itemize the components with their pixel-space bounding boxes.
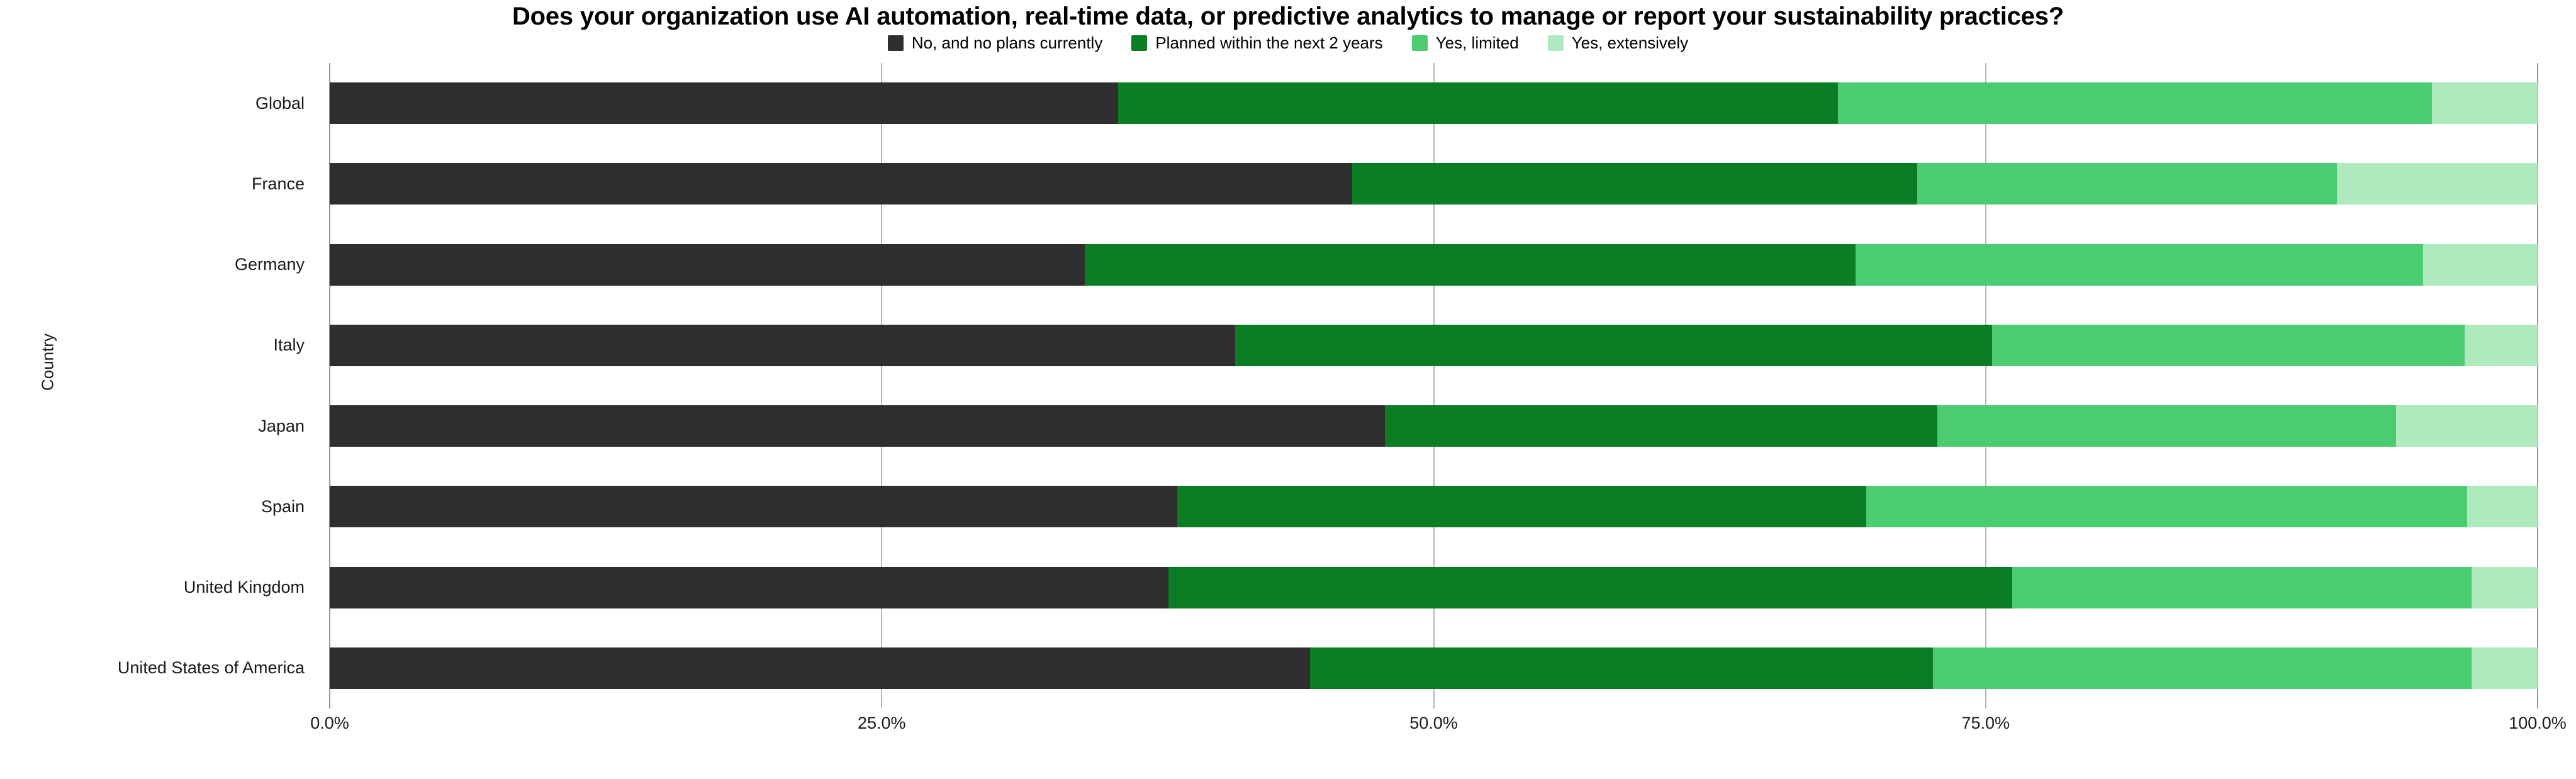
stacked-bar (330, 163, 2538, 205)
bar-segment[interactable] (330, 567, 1168, 608)
y-axis-labels: GlobalFranceGermanyItalyJapanSpainUnited… (0, 63, 317, 709)
y-axis-label: Spain (261, 497, 305, 517)
bar-segment[interactable] (1933, 647, 2472, 689)
legend-swatch-icon (1412, 35, 1428, 51)
bar-segment[interactable] (2423, 244, 2538, 286)
x-axis-tick-label: 75.0% (1961, 714, 2010, 733)
legend-swatch-icon (888, 35, 904, 51)
legend-item-label: Yes, extensively (1572, 35, 1688, 51)
legend-item[interactable]: No, and no plans currently (888, 35, 1103, 51)
bar-row (330, 143, 2538, 224)
y-axis-label-cell: United Kingdom (0, 547, 317, 628)
bar-segment[interactable] (2396, 405, 2538, 447)
bar-segment[interactable] (330, 325, 1235, 366)
y-axis-label: United States of America (118, 658, 305, 678)
y-axis-label: Japan (258, 417, 305, 436)
bar-segment[interactable] (2472, 567, 2538, 608)
x-axis-tick-label: 0.0% (310, 714, 349, 733)
bar-segment[interactable] (2472, 647, 2538, 689)
bar-segment[interactable] (330, 647, 1310, 689)
chart-legend: No, and no plans currentlyPlanned within… (0, 35, 2576, 51)
bar-segment[interactable] (2465, 325, 2538, 366)
bar-segment[interactable] (1937, 405, 2397, 447)
y-axis-label-cell: Italy (0, 305, 317, 386)
bar-segment[interactable] (2012, 567, 2472, 608)
bar-row (330, 305, 2538, 386)
y-axis-label: Italy (273, 335, 305, 355)
chart-title: Does your organization use AI automation… (0, 3, 2576, 31)
bar-row (330, 466, 2538, 547)
bar-row (330, 547, 2538, 628)
bar-segment[interactable] (1235, 325, 1993, 366)
y-axis-label: Germany (235, 255, 305, 274)
bar-segment[interactable] (1992, 325, 2465, 366)
legend-item-label: No, and no plans currently (912, 35, 1103, 51)
bar-segment[interactable] (1118, 82, 1838, 124)
y-axis-label-cell: Japan (0, 386, 317, 466)
x-axis-tick-label: 100.0% (2509, 714, 2567, 733)
bar-segment[interactable] (1917, 163, 2337, 205)
y-axis-label: France (252, 174, 305, 194)
bar-series-group (330, 63, 2538, 709)
stacked-bar (330, 567, 2538, 608)
x-axis-tick-label: 50.0% (1409, 714, 1458, 733)
legend-item-label: Yes, limited (1436, 35, 1519, 51)
bar-segment[interactable] (1310, 647, 1933, 689)
bar-segment[interactable] (2432, 82, 2538, 124)
bar-segment[interactable] (2337, 163, 2538, 205)
y-axis-label-cell: Germany (0, 225, 317, 305)
y-axis-label-cell: United States of America (0, 628, 317, 709)
bar-row (330, 628, 2538, 709)
legend-item-label: Planned within the next 2 years (1155, 35, 1382, 51)
bar-segment[interactable] (1352, 163, 1917, 205)
bar-row (330, 225, 2538, 305)
bar-row (330, 63, 2538, 143)
y-axis-label-cell: Global (0, 63, 317, 143)
legend-swatch-icon (1131, 35, 1147, 51)
legend-item[interactable]: Planned within the next 2 years (1131, 35, 1382, 51)
stacked-bar (330, 405, 2538, 447)
legend-item[interactable]: Yes, extensively (1548, 35, 1688, 51)
x-axis-tick-label: 25.0% (858, 714, 906, 733)
y-axis-label: Global (255, 94, 305, 113)
chart-container: Does your organization use AI automation… (0, 0, 2576, 779)
stacked-bar (330, 244, 2538, 286)
bar-segment[interactable] (330, 405, 1385, 447)
bar-segment[interactable] (2467, 486, 2538, 527)
legend-item[interactable]: Yes, limited (1412, 35, 1519, 51)
stacked-bar (330, 647, 2538, 689)
y-axis-label-cell: Spain (0, 466, 317, 547)
bar-segment[interactable] (330, 163, 1352, 205)
legend-swatch-icon (1548, 35, 1564, 51)
x-axis-ticks: 0.0%25.0%50.0%75.0%100.0% (330, 714, 2538, 739)
bar-segment[interactable] (1085, 244, 1856, 286)
bar-segment[interactable] (1385, 405, 1937, 447)
bar-segment[interactable] (1177, 486, 1866, 527)
stacked-bar (330, 82, 2538, 124)
bar-row (330, 386, 2538, 466)
bar-segment[interactable] (330, 244, 1085, 286)
stacked-bar (330, 486, 2538, 527)
bar-segment[interactable] (1856, 244, 2423, 286)
bar-segment[interactable] (330, 486, 1177, 527)
y-axis-label-cell: France (0, 143, 317, 224)
plot-area (330, 63, 2538, 709)
bar-segment[interactable] (1168, 567, 2012, 608)
bar-segment[interactable] (330, 82, 1118, 124)
stacked-bar (330, 325, 2538, 366)
bar-segment[interactable] (1866, 486, 2467, 527)
bar-segment[interactable] (1838, 82, 2432, 124)
y-axis-label: United Kingdom (184, 578, 305, 597)
